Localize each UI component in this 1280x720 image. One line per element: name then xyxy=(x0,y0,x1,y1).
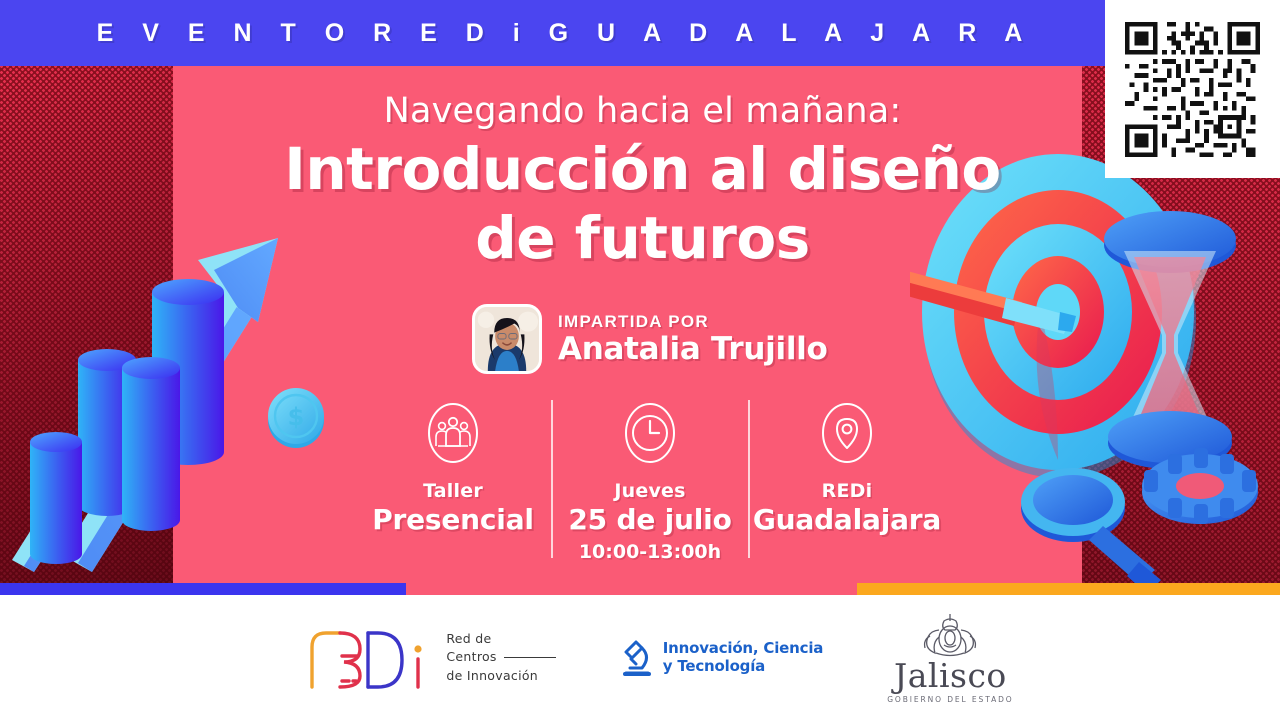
location-pin-icon xyxy=(820,402,874,464)
redi-wordmark-text: Red de Centros de Innovación xyxy=(446,630,555,684)
info-top-modality: Taller xyxy=(423,480,483,502)
redi-line-3: de Innovación xyxy=(446,667,555,685)
clock-icon xyxy=(623,402,677,464)
title-block: Navegando hacia el mañana: Introducción … xyxy=(255,91,1030,270)
info-top-date: Jueves xyxy=(614,480,685,502)
info-main-venue: Guadalajara xyxy=(753,503,941,536)
bottom-color-strip xyxy=(0,583,1280,595)
redi-rule xyxy=(504,657,556,658)
ict-line-2: y Tecnología xyxy=(663,658,823,676)
title-headline-2: de futuros xyxy=(255,208,1030,269)
speaker-name: Anatalia Trujillo xyxy=(558,333,827,366)
speaker-block: IMPARTIDA POR Anatalia Trujillo xyxy=(472,304,827,374)
strip-segment-pink xyxy=(406,583,857,595)
footer-logos: Red de Centros de Innovación Innovación,… xyxy=(0,595,1280,720)
title-headline-1: Introducción al diseño xyxy=(255,139,1030,200)
event-banner: E V E N T O R E D i G U A D A L A J A R … xyxy=(0,0,1280,66)
ict-line-1: Innovación, Ciencia xyxy=(663,640,823,658)
logo-redi: Red de Centros de Innovación xyxy=(306,625,555,691)
ict-wordmark-text: Innovación, Ciencia y Tecnología xyxy=(663,640,823,675)
strip-segment-blue xyxy=(0,583,406,595)
jalisco-subtitle: GOBIERNO DEL ESTADO xyxy=(887,695,1013,704)
redi-line-2: Centros xyxy=(446,648,496,666)
logo-jalisco: Jalisco GOBIERNO DEL ESTADO xyxy=(887,612,1013,704)
info-col-venue: REDi Guadalajara xyxy=(750,396,945,536)
avatar xyxy=(472,304,542,374)
info-sub-time: 10:00-13:00h xyxy=(579,541,721,563)
info-main-modality: Presencial xyxy=(372,503,534,536)
strip-segment-orange xyxy=(857,583,1280,595)
avatar-photo xyxy=(475,307,539,371)
redi-line-1: Red de xyxy=(446,630,555,648)
redi-mark-icon xyxy=(306,625,434,691)
info-top-venue: REDi xyxy=(822,480,873,502)
qr-panel[interactable] xyxy=(1105,0,1280,178)
people-group-icon xyxy=(426,402,480,464)
qr-code[interactable] xyxy=(1125,22,1260,157)
jalisco-wordmark: Jalisco xyxy=(894,659,1007,692)
speaker-label: IMPARTIDA POR xyxy=(558,313,827,331)
info-col-date: Jueves 25 de julio 10:00-13:00h xyxy=(553,396,748,563)
microscope-icon xyxy=(620,637,654,679)
banner-title: E V E N T O R E D i G U A D A L A J A R … xyxy=(97,19,1184,48)
poster-canvas: $ xyxy=(0,0,1280,595)
logo-innovacion-ciencia-tecnologia: Innovación, Ciencia y Tecnología xyxy=(620,637,823,679)
info-col-modality: Taller Presencial xyxy=(356,396,551,536)
jalisco-crest-icon xyxy=(914,612,986,658)
info-main-date: 25 de julio xyxy=(568,503,731,536)
info-row: Taller Presencial Jueves 25 de julio 10:… xyxy=(330,396,970,595)
title-kicker: Navegando hacia el mañana: xyxy=(255,91,1030,131)
